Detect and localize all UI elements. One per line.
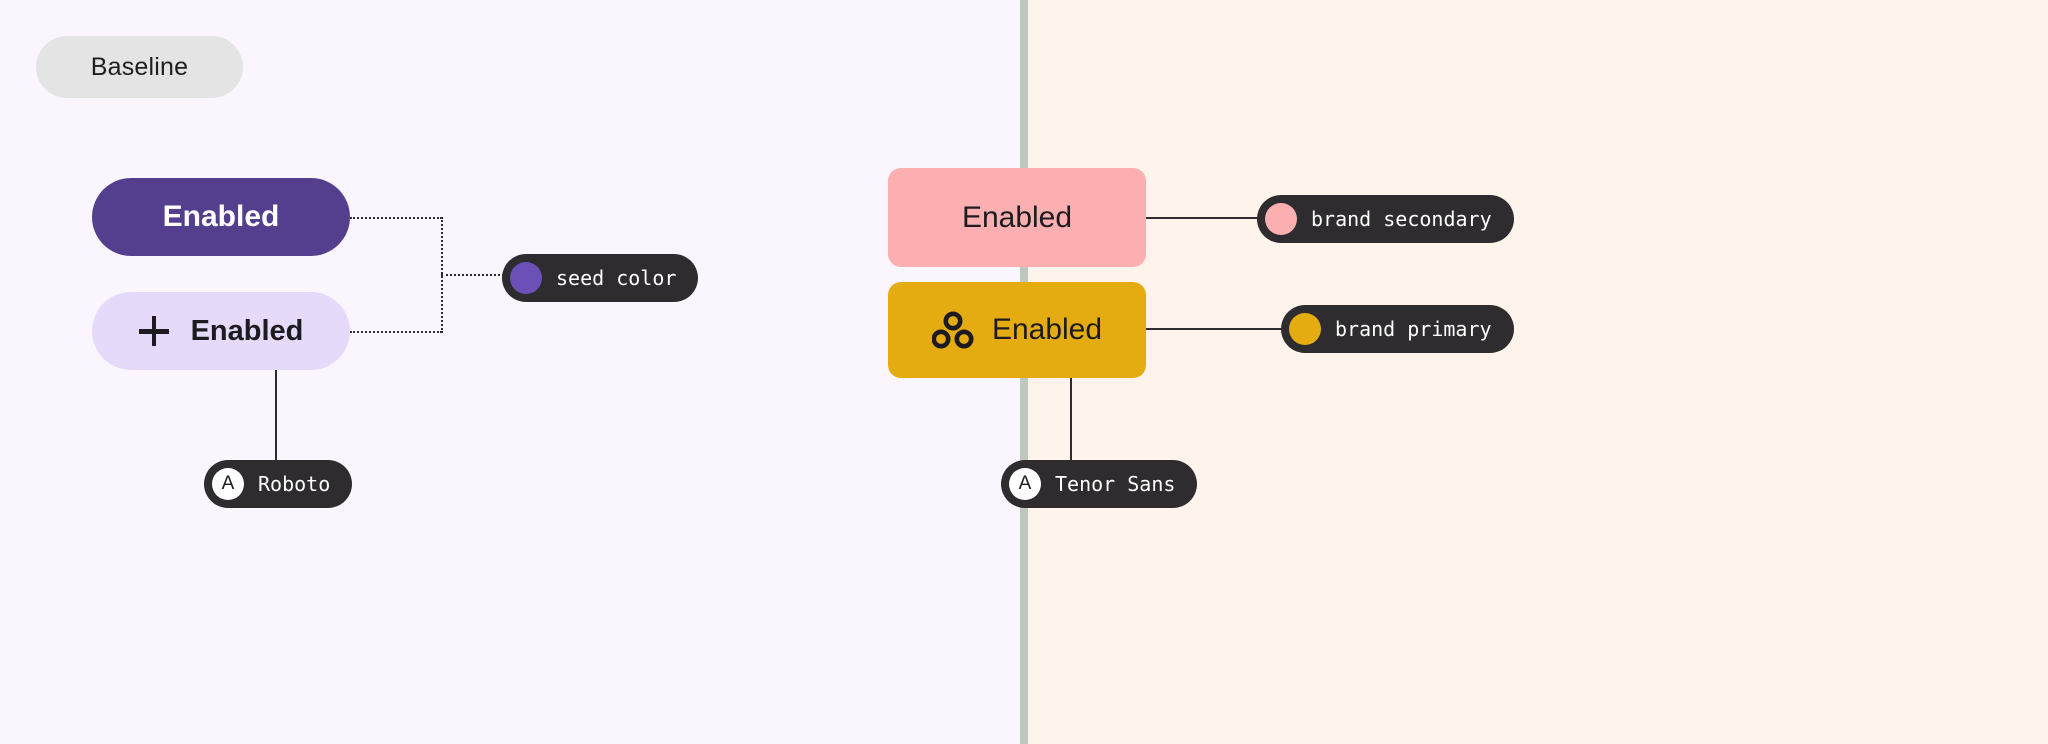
baseline-tonal-button-label: Enabled bbox=[191, 317, 304, 346]
annotation-chip-roboto[interactable]: A Roboto bbox=[204, 460, 352, 508]
connector-bracket-to-seed-chip bbox=[441, 274, 504, 276]
color-swatch-icon bbox=[1289, 313, 1321, 345]
panel-heading-baseline: Baseline bbox=[36, 36, 243, 98]
custom-secondary-button-label: Enabled bbox=[962, 203, 1072, 233]
connector-primary-button-to-chip bbox=[1140, 328, 1284, 330]
font-badge-icon: A bbox=[1009, 468, 1041, 500]
panel-custom: Custom bbox=[1028, 0, 2048, 744]
baseline-filled-button-label: Enabled bbox=[163, 202, 280, 232]
color-swatch-icon bbox=[1265, 203, 1297, 235]
annotation-chip-seed-color[interactable]: seed color bbox=[502, 254, 698, 302]
baseline-filled-button[interactable]: Enabled bbox=[92, 178, 350, 256]
custom-primary-button-label: Enabled bbox=[992, 315, 1102, 345]
rings-icon bbox=[932, 310, 974, 350]
annotation-chip-roboto-label: Roboto bbox=[258, 472, 330, 496]
annotation-chip-tenor-sans[interactable]: A Tenor Sans bbox=[1001, 460, 1197, 508]
custom-secondary-button[interactable]: Enabled bbox=[888, 168, 1146, 267]
font-badge-icon: A bbox=[212, 468, 244, 500]
comparison-canvas: Baseline Enabled Enabled seed color A Ro… bbox=[0, 0, 2048, 744]
plus-icon bbox=[139, 316, 169, 346]
connector-filled-to-seed bbox=[350, 217, 442, 219]
panel-heading-baseline-label: Baseline bbox=[91, 53, 189, 82]
annotation-chip-brand-primary[interactable]: brand primary bbox=[1281, 305, 1514, 353]
connector-secondary-button-to-chip bbox=[1140, 217, 1260, 219]
color-swatch-icon bbox=[510, 262, 542, 294]
annotation-chip-brand-secondary-label: brand secondary bbox=[1311, 207, 1492, 231]
panel-baseline: Baseline Enabled Enabled seed color A Ro… bbox=[0, 0, 1020, 744]
annotation-chip-tenor-sans-label: Tenor Sans bbox=[1055, 472, 1175, 496]
connector-tonal-to-seed bbox=[350, 331, 442, 333]
custom-primary-button[interactable]: Enabled bbox=[888, 282, 1146, 378]
annotation-chip-seed-color-label: seed color bbox=[556, 266, 676, 290]
annotation-chip-brand-secondary[interactable]: brand secondary bbox=[1257, 195, 1514, 243]
baseline-tonal-button[interactable]: Enabled bbox=[92, 292, 350, 370]
annotation-chip-brand-primary-label: brand primary bbox=[1335, 317, 1492, 341]
